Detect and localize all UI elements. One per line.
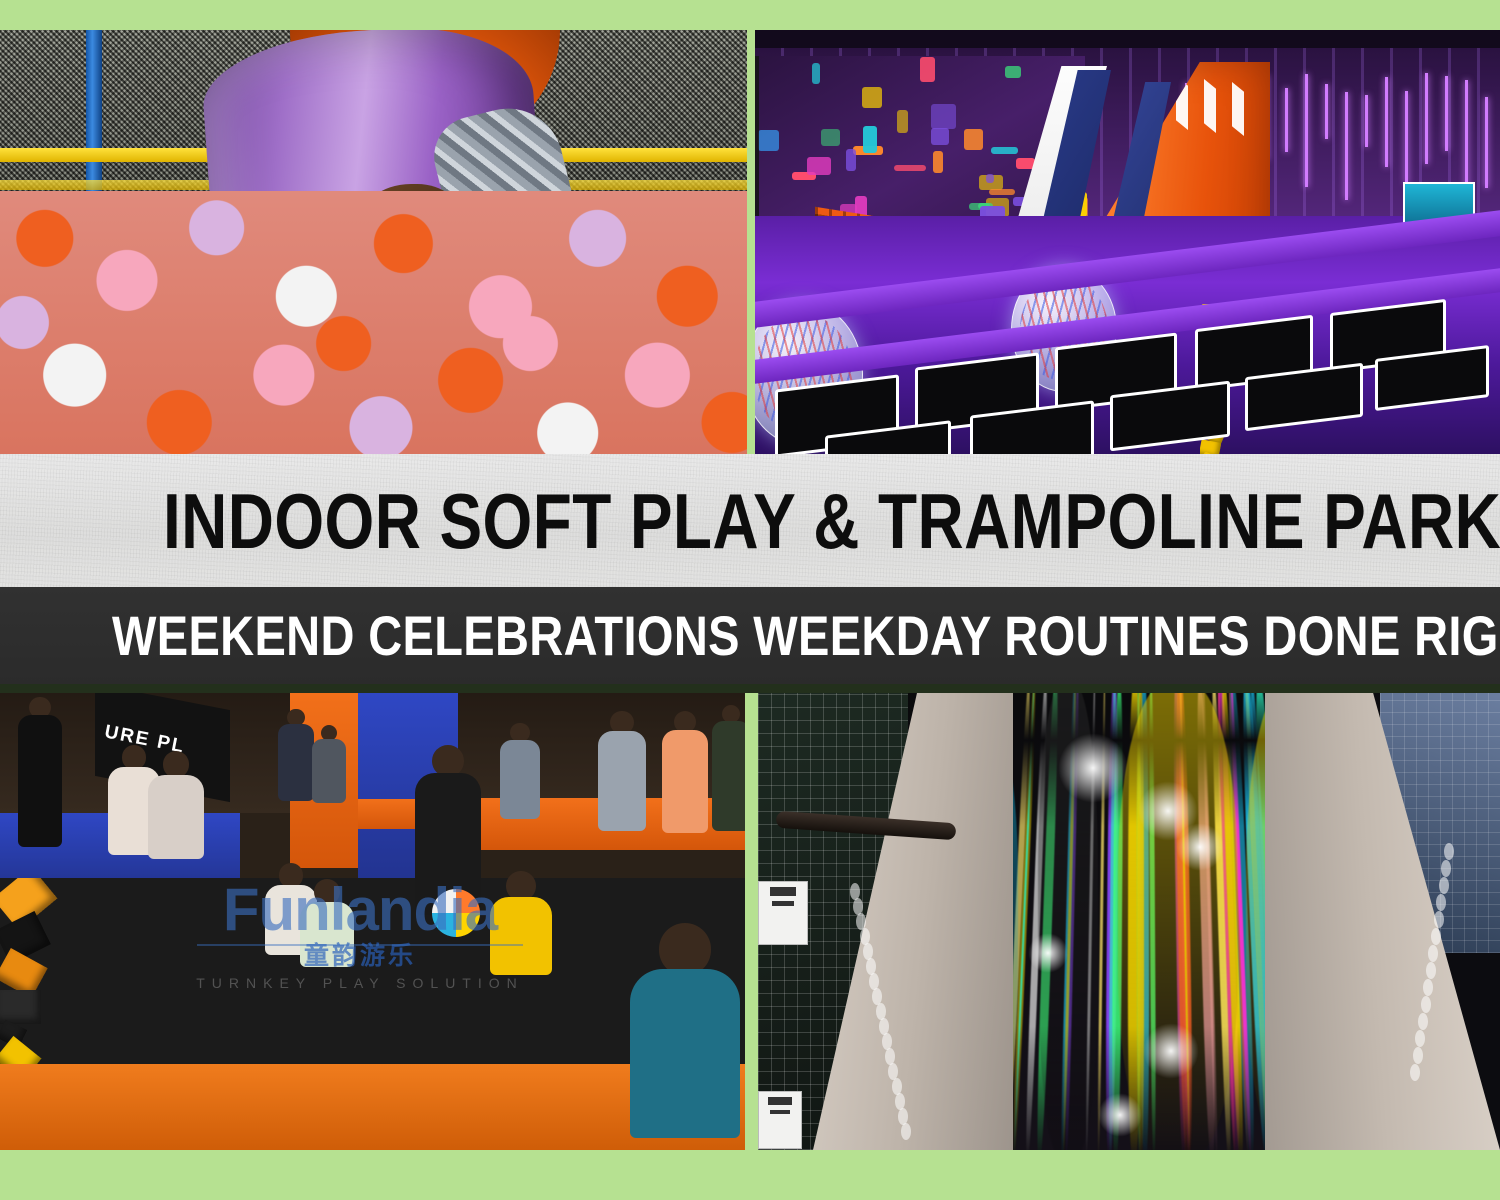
head: [163, 751, 190, 778]
soft-play-element: [1016, 158, 1036, 169]
body: [312, 739, 346, 803]
neon-strip: [1425, 73, 1428, 164]
person-foreground: [630, 923, 740, 1138]
chevron-marking: [1204, 79, 1216, 133]
foam-cube: [0, 990, 41, 1024]
soft-play-element: [964, 129, 983, 150]
light-flare: [1143, 1023, 1199, 1079]
wall-dot: [1444, 843, 1454, 860]
poster-canvas: INDOOR SOFT PLAY & TRAMPOLINE PARKS WEEK…: [0, 0, 1500, 1200]
head: [432, 745, 464, 777]
light-flare: [1028, 933, 1068, 973]
subheadline-band: WEEKEND CELEBRATIONS WEEKDAY ROUTINES DO…: [0, 587, 1500, 684]
warning-sign-lower: [758, 1091, 802, 1149]
body: [18, 715, 62, 847]
person-bg-3: [500, 723, 540, 819]
soft-play-element: [1005, 66, 1021, 78]
body: [500, 740, 540, 819]
gutter-top: [747, 30, 755, 454]
neon-strip: [1405, 91, 1408, 184]
wall-dot: [1426, 962, 1436, 979]
neon-strip: [1345, 92, 1348, 200]
photo-rainbow-slide: [758, 693, 1500, 1150]
wall-dot: [1418, 1013, 1428, 1030]
neon-strip: [1305, 74, 1308, 186]
photo-foam-pit: URE PL: [0, 693, 745, 1150]
body: [278, 724, 314, 801]
neon-strip: [1285, 88, 1288, 152]
wall-dot: [1434, 911, 1444, 928]
soft-play-element: [989, 189, 1015, 196]
person-bg-5: [662, 711, 708, 833]
person-child-2: [300, 879, 354, 967]
soft-play-element: [986, 174, 994, 183]
neon-strip: [1485, 97, 1488, 188]
body: [598, 731, 646, 831]
light-flare: [1098, 1093, 1142, 1137]
head: [659, 923, 712, 976]
soft-play-element: [897, 110, 908, 133]
wall-dot: [1413, 1047, 1423, 1064]
person-staff: [18, 697, 62, 847]
headline-band: INDOOR SOFT PLAY & TRAMPOLINE PARKS: [0, 454, 1500, 587]
soft-play-element: [758, 130, 779, 151]
neon-strip: [1445, 76, 1448, 151]
gutter-bottom: [745, 693, 758, 1150]
soft-play-element: [862, 87, 883, 108]
neon-strip: [1365, 95, 1368, 147]
beach-ball: [432, 889, 480, 937]
photo-ball-pit-slide: [0, 30, 747, 454]
wall-dot: [1439, 877, 1449, 894]
colour-band: [1118, 693, 1238, 1150]
page-title: INDOOR SOFT PLAY & TRAMPOLINE PARKS: [163, 482, 1500, 560]
neon-strip: [1385, 77, 1388, 168]
soft-play-element: [933, 151, 943, 172]
person-seated-2: [148, 751, 204, 859]
soft-play-element: [894, 165, 925, 171]
body: [630, 969, 740, 1138]
person-bg-6: [712, 705, 745, 831]
neon-strip: [1325, 84, 1328, 140]
light-flare: [1176, 823, 1224, 871]
photo-trampoline-park-render: [755, 30, 1500, 454]
body: [712, 721, 745, 831]
wall-dot: [1431, 928, 1441, 945]
person-bg-4: [598, 711, 646, 831]
soft-play-element: [821, 129, 840, 145]
light-flare: [1058, 733, 1128, 803]
body: [662, 730, 708, 833]
body: [490, 897, 552, 975]
band-divider: [0, 684, 1500, 693]
soft-play-element: [931, 128, 948, 145]
neon-strip: [1465, 80, 1468, 189]
warning-sign-upper: [758, 881, 808, 945]
soft-play-element: [807, 157, 831, 175]
page-subtitle: WEEKEND CELEBRATIONS WEEKDAY ROUTINES DO…: [112, 608, 1500, 664]
soft-play-element: [863, 126, 877, 153]
person-bg-2: [312, 725, 346, 803]
soft-play-element: [846, 149, 856, 171]
body: [148, 775, 204, 859]
chevron-marking: [1232, 82, 1244, 136]
ball-pit-balls: [0, 191, 747, 454]
border-bottom: [0, 1150, 1500, 1200]
body: [300, 902, 354, 967]
wall-dot: [1421, 996, 1431, 1013]
soft-play-element: [931, 104, 956, 129]
border-top: [0, 0, 1500, 30]
soft-play-element: [991, 147, 1018, 154]
person-bg-1: [278, 709, 314, 801]
soft-play-element: [812, 63, 820, 84]
person-child-yellow: [490, 871, 552, 975]
soft-play-element: [920, 57, 935, 82]
